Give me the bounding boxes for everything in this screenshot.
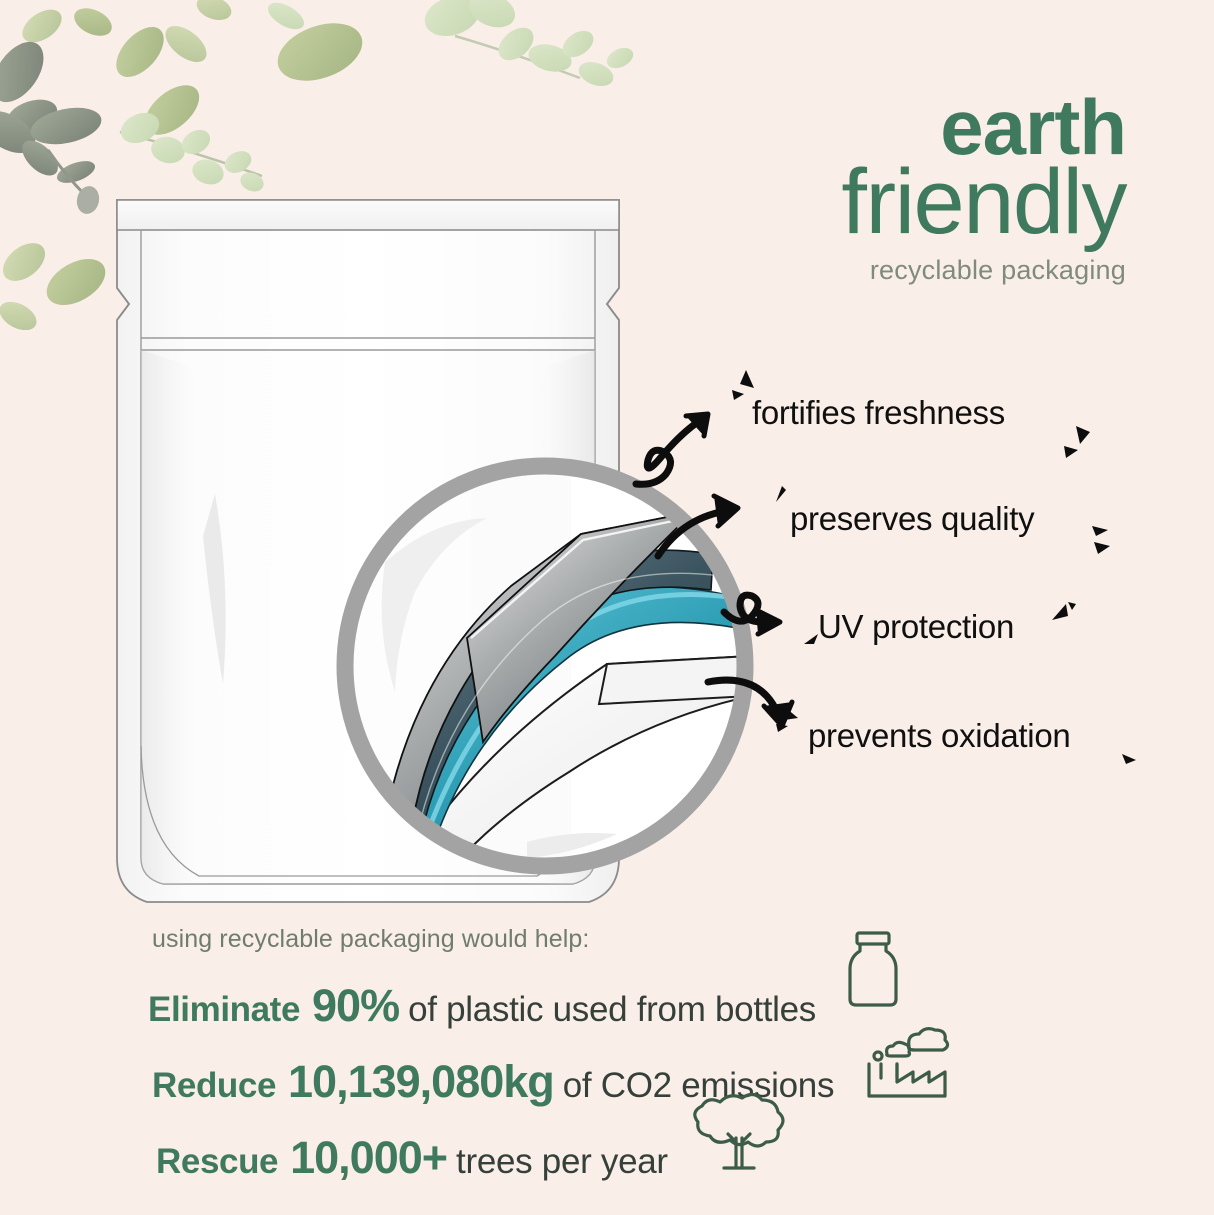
stats-block: using recyclable packaging would help: E…	[148, 925, 1108, 1208]
sparkle-icon	[1118, 750, 1144, 776]
feature-callouts: fortifies freshness preserves quality UV…	[700, 372, 1170, 792]
feature-uv-protection: UV protection	[818, 608, 1014, 646]
stat-verb: Eliminate	[148, 990, 300, 1030]
stat-tail: of CO2 emissions	[563, 1066, 834, 1106]
stat-verb: Reduce	[152, 1066, 276, 1106]
stat-row-eliminate: Eliminate 90% of plastic used from bottl…	[148, 980, 1108, 1032]
stat-value: 10,000+	[290, 1132, 447, 1184]
sparkle-icon	[1088, 520, 1120, 558]
feature-preserves-quality: preserves quality	[790, 500, 1034, 538]
stat-value: 90%	[312, 980, 399, 1032]
feature-prevents-oxidation: prevents oxidation	[808, 717, 1070, 755]
stat-value: 10,139,080kg	[288, 1056, 554, 1108]
headline-line-2: friendly	[841, 160, 1126, 245]
stat-row-rescue: Rescue 10,000+ trees per year	[156, 1132, 1108, 1184]
stat-tail: of plastic used from bottles	[408, 990, 816, 1030]
headline-subtitle: recyclable packaging	[841, 258, 1126, 283]
stat-row-reduce: Reduce 10,139,080kg of CO2 emissions	[152, 1056, 1108, 1108]
stats-intro-text: using recyclable packaging would help:	[152, 925, 1108, 954]
headline-block: earth friendly recyclable packaging	[841, 92, 1126, 283]
sparkle-icon	[1058, 424, 1098, 464]
sparkle-icon	[1048, 600, 1078, 634]
infographic-poster: earth friendly recyclable packaging fort…	[0, 0, 1214, 1215]
feature-fortifies-freshness: fortifies freshness	[752, 394, 1005, 432]
stat-verb: Rescue	[156, 1142, 278, 1182]
sparkle-icon	[774, 704, 804, 736]
stat-tail: trees per year	[456, 1142, 668, 1182]
